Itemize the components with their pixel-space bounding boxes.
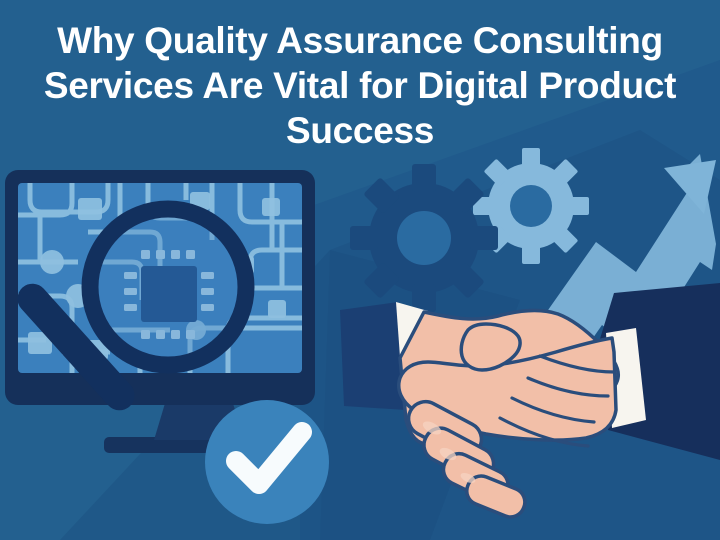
illustration-canvas: [0, 0, 720, 540]
banner-graphic: Why Quality Assurance Consulting Service…: [0, 0, 720, 540]
sleeve-left: [340, 302, 406, 410]
check-circle-badge: [205, 400, 329, 524]
gear-dark: [350, 164, 498, 312]
